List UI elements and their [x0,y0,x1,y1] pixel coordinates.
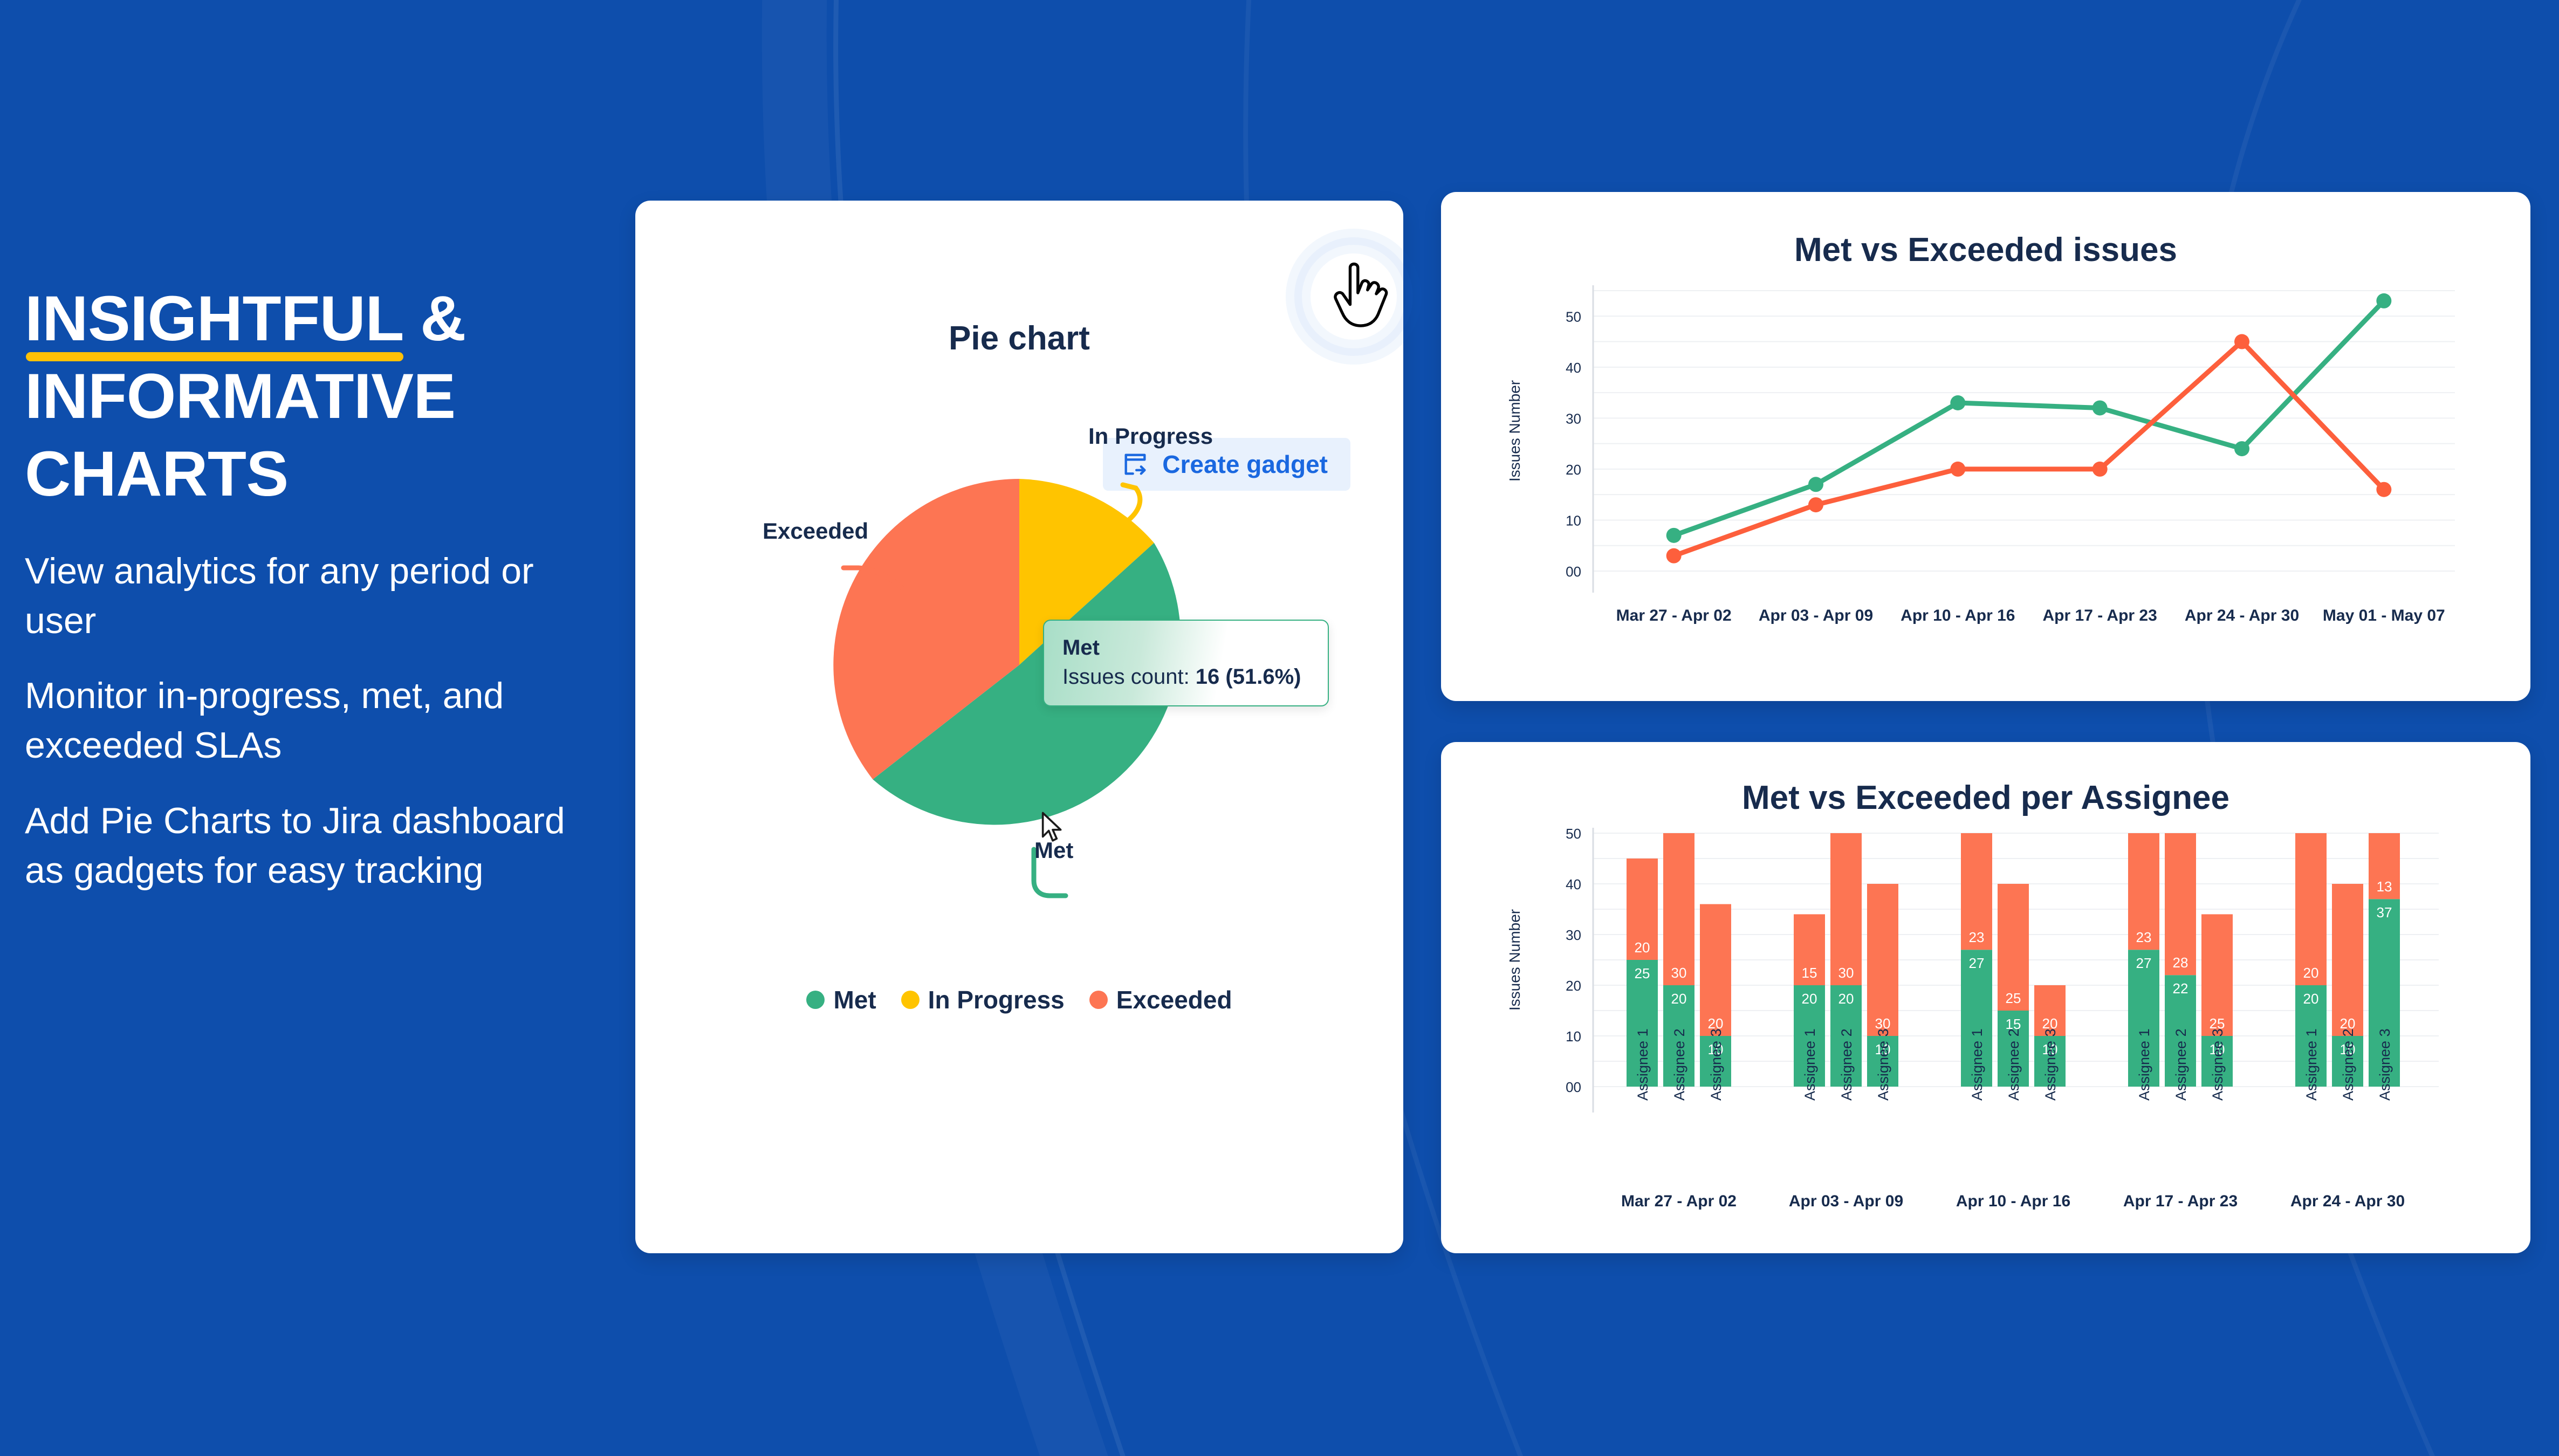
svg-text:20: 20 [1635,939,1650,956]
headline-underline [26,352,403,361]
pie-tooltip-value: 16 (51.6%) [1196,665,1301,689]
svg-text:20: 20 [1566,978,1581,994]
svg-text:Apr 17 - Apr 23: Apr 17 - Apr 23 [2043,607,2157,624]
svg-text:22: 22 [2173,980,2188,997]
svg-text:30: 30 [1838,965,1854,981]
svg-text:Assignee 1: Assignee 1 [2136,1028,2152,1101]
svg-text:00: 00 [1566,1079,1581,1095]
svg-text:Mar 27 - Apr 02: Mar 27 - Apr 02 [1621,1192,1737,1210]
pie-leader-in-progress [1123,485,1140,520]
svg-text:40: 40 [1566,360,1581,376]
legend-item-exceeded[interactable]: Exceeded [1089,985,1232,1014]
svg-text:13: 13 [2377,878,2392,895]
line-chart-title: Met vs Exceeded issues [1441,231,2530,269]
headline-line-1: INSIGHTFUL & [25,280,466,358]
svg-text:Assignee 2: Assignee 2 [2006,1028,2022,1101]
svg-text:30: 30 [1566,927,1581,943]
svg-text:27: 27 [2136,955,2152,971]
svg-text:20: 20 [1838,991,1854,1007]
svg-text:Assignee 2: Assignee 2 [1838,1028,1855,1101]
svg-text:Apr 24 - Apr 30: Apr 24 - Apr 30 [2185,607,2299,624]
svg-text:25: 25 [2006,990,2021,1006]
legend-item-met[interactable]: Met [806,985,876,1014]
legend-label-met: Met [833,985,876,1014]
svg-text:Assignee 2: Assignee 2 [2173,1028,2189,1101]
pie-label-in-progress: In Progress [1088,423,1213,449]
pie-legend: Met In Progress Exceeded [635,985,1403,1014]
list-item: Monitor in-progress, met, and exceeded S… [25,671,580,771]
svg-text:Assignee 3: Assignee 3 [2042,1028,2059,1101]
pie-tooltip-body: Issues count: 16 (51.6%) [1062,665,1312,689]
pie-label-met: Met [1034,837,1073,863]
svg-text:Apr 10 - Apr 16: Apr 10 - Apr 16 [1956,1192,2070,1210]
svg-text:50: 50 [1566,308,1581,325]
svg-text:Issues Number: Issues Number [1506,909,1523,1011]
legend-dot-in-progress [901,991,920,1009]
bar-chart-title: Met vs Exceeded per Assignee [1441,779,2530,817]
svg-text:37: 37 [2377,904,2392,921]
svg-text:10: 10 [1566,512,1581,528]
pie-tooltip-prefix: Issues count: [1062,665,1196,689]
svg-text:20: 20 [1566,462,1581,478]
svg-text:Assignee 2: Assignee 2 [1671,1028,1687,1101]
svg-text:Assignee 1: Assignee 1 [2303,1028,2320,1101]
svg-text:30: 30 [1671,965,1687,981]
svg-text:20: 20 [2303,965,2319,981]
svg-text:00: 00 [1566,564,1581,580]
svg-text:Assignee 3: Assignee 3 [1708,1028,1724,1101]
svg-text:40: 40 [1566,876,1581,892]
headline-line-2: INFORMATIVE [25,361,456,432]
svg-text:Mar 27 - Apr 02: Mar 27 - Apr 02 [1616,607,1732,624]
pie-chart-title: Pie chart [635,319,1403,358]
legend-label-in-progress: In Progress [928,985,1065,1014]
svg-text:Assignee 1: Assignee 1 [1635,1028,1651,1101]
list-item: Add Pie Charts to Jira dashboard as gadg… [25,796,580,896]
pie-tooltip-title: Met [1062,635,1312,661]
headline-line-3: CHARTS [25,438,289,510]
legend-item-in-progress[interactable]: In Progress [901,985,1065,1014]
svg-text:Apr 17 - Apr 23: Apr 17 - Apr 23 [2123,1192,2238,1210]
pie-chart-card: Create gadget Pie chart In Progress Exce… [635,201,1403,1253]
list-item: View analytics for any period or user [25,547,580,646]
svg-text:Assignee 3: Assignee 3 [2377,1028,2393,1101]
svg-text:20: 20 [2303,991,2319,1007]
svg-text:Assignee 3: Assignee 3 [1875,1028,1891,1101]
svg-text:Assignee 3: Assignee 3 [2210,1028,2226,1101]
svg-text:Assignee 1: Assignee 1 [1969,1028,1985,1101]
svg-text:25: 25 [1635,965,1650,981]
svg-text:28: 28 [2173,954,2188,971]
svg-text:Apr 03 - Apr 09: Apr 03 - Apr 09 [1759,607,1873,624]
bar-chart-svg: 001020304050Issues Number2520Assignee 12… [1468,817,2503,1227]
svg-text:Apr 03 - Apr 09: Apr 03 - Apr 09 [1789,1192,1903,1210]
headline-line-1-text: INSIGHTFUL & [25,283,466,354]
svg-text:Assignee 1: Assignee 1 [1802,1028,1818,1101]
legend-dot-exceeded [1089,991,1108,1009]
legend-dot-met [806,991,825,1009]
pie-tooltip: Met Issues count: 16 (51.6%) [1043,620,1329,706]
pie-chart-plot-area: In Progress Exceeded Met Met Issues coun… [635,363,1403,967]
svg-text:27: 27 [1969,955,1985,971]
svg-text:23: 23 [1969,929,1985,945]
svg-text:30: 30 [1566,410,1581,427]
legend-label-exceeded: Exceeded [1116,985,1232,1014]
pie-label-exceeded: Exceeded [763,518,868,544]
line-chart-svg: 001020304050Issues NumberMar 27 - Apr 02… [1468,269,2503,657]
svg-text:20: 20 [1802,991,1817,1007]
svg-text:May 01 - May 07: May 01 - May 07 [2323,607,2445,624]
svg-text:15: 15 [1802,965,1817,981]
marketing-copy-column: INSIGHTFUL & INFORMATIVE CHARTS View ana… [25,280,602,922]
svg-text:Apr 24 - Apr 30: Apr 24 - Apr 30 [2290,1192,2405,1210]
svg-text:Apr 10 - Apr 16: Apr 10 - Apr 16 [1901,607,2015,624]
svg-text:50: 50 [1566,826,1581,842]
svg-text:Assignee 2: Assignee 2 [2340,1028,2356,1101]
feature-bullet-list: View analytics for any period or user Mo… [25,547,602,896]
line-chart-card: Met vs Exceeded issues 001020304050Issue… [1441,192,2530,701]
svg-text:Issues Number: Issues Number [1506,380,1523,482]
svg-text:10: 10 [1566,1028,1581,1045]
page-title: INSIGHTFUL & INFORMATIVE CHARTS [25,280,602,513]
bar-chart-card: Met vs Exceeded per Assignee 00102030405… [1441,742,2530,1253]
svg-text:23: 23 [2136,929,2152,945]
svg-text:20: 20 [1671,991,1687,1007]
